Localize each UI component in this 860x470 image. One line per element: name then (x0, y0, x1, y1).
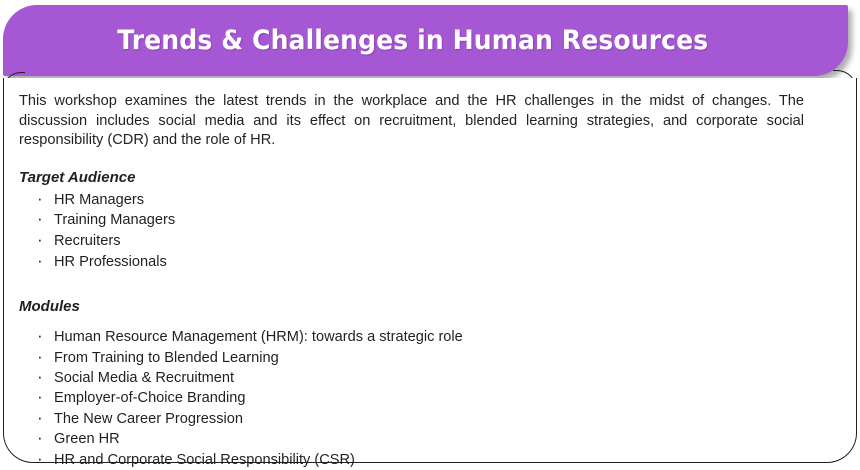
page-title: Trends & Challenges in Human Resources (117, 27, 708, 54)
slide-root: Trends & Challenges in Human Resources T… (0, 0, 860, 467)
section-heading-target-audience: Target Audience (19, 169, 819, 186)
list-item: The New Career Progression (19, 409, 819, 429)
list-item: Human Resource Management (HRM): towards… (19, 327, 819, 347)
list-item: Training Managers (19, 210, 819, 231)
list-item: Social Media & Recruitment (19, 368, 819, 388)
list-item: HR Managers (19, 190, 819, 211)
list-item: Green HR (19, 429, 819, 449)
content-area: This workshop examines the latest trends… (19, 92, 819, 470)
list-item: Employer-of-Choice Branding (19, 388, 819, 408)
list-item: HR Professionals (19, 252, 819, 273)
section-heading-modules: Modules (19, 298, 819, 315)
modules-list: Human Resource Management (HRM): towards… (19, 327, 819, 470)
list-item: Recruiters (19, 231, 819, 252)
target-audience-list: HR Managers Training Managers Recruiters… (19, 190, 819, 272)
list-item: From Training to Blended Learning (19, 348, 819, 368)
header-banner: Trends & Challenges in Human Resources (3, 5, 848, 76)
intro-paragraph: This workshop examines the latest trends… (19, 92, 804, 151)
